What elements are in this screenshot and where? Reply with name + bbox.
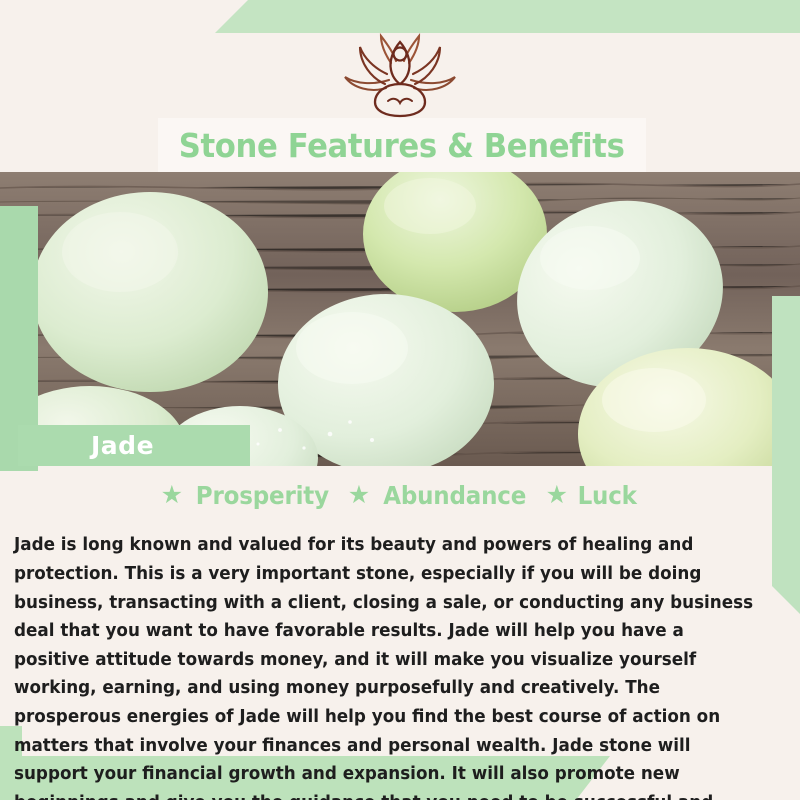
- benefit-item: ★ Abundance: [348, 481, 533, 510]
- benefit-label: Luck: [578, 481, 637, 510]
- benefits-row: ★ Prosperity ★ Abundance ★ Luck: [0, 478, 800, 512]
- benefit-item: ★ Prosperity: [161, 481, 335, 510]
- page-title: Stone Features & Benefits: [179, 126, 625, 165]
- star-icon: ★: [348, 483, 370, 508]
- benefit-label: Abundance: [383, 481, 526, 510]
- lotus-meditation-icon: [325, 32, 475, 120]
- stone-name-badge: Jade: [18, 425, 250, 466]
- stone-description: Jade is long known and valued for its be…: [14, 531, 761, 800]
- page-title-banner: Stone Features & Benefits: [158, 118, 646, 172]
- benefit-item: ★ Luck: [546, 481, 640, 510]
- benefit-label: Prosperity: [196, 481, 329, 510]
- decor-strip-right: [772, 296, 800, 614]
- hero-photo: [0, 172, 800, 466]
- star-icon: ★: [546, 483, 568, 508]
- star-icon: ★: [161, 483, 183, 508]
- infographic-card: BUDDHA STONES: [0, 0, 800, 800]
- stone-name: Jade: [91, 431, 154, 460]
